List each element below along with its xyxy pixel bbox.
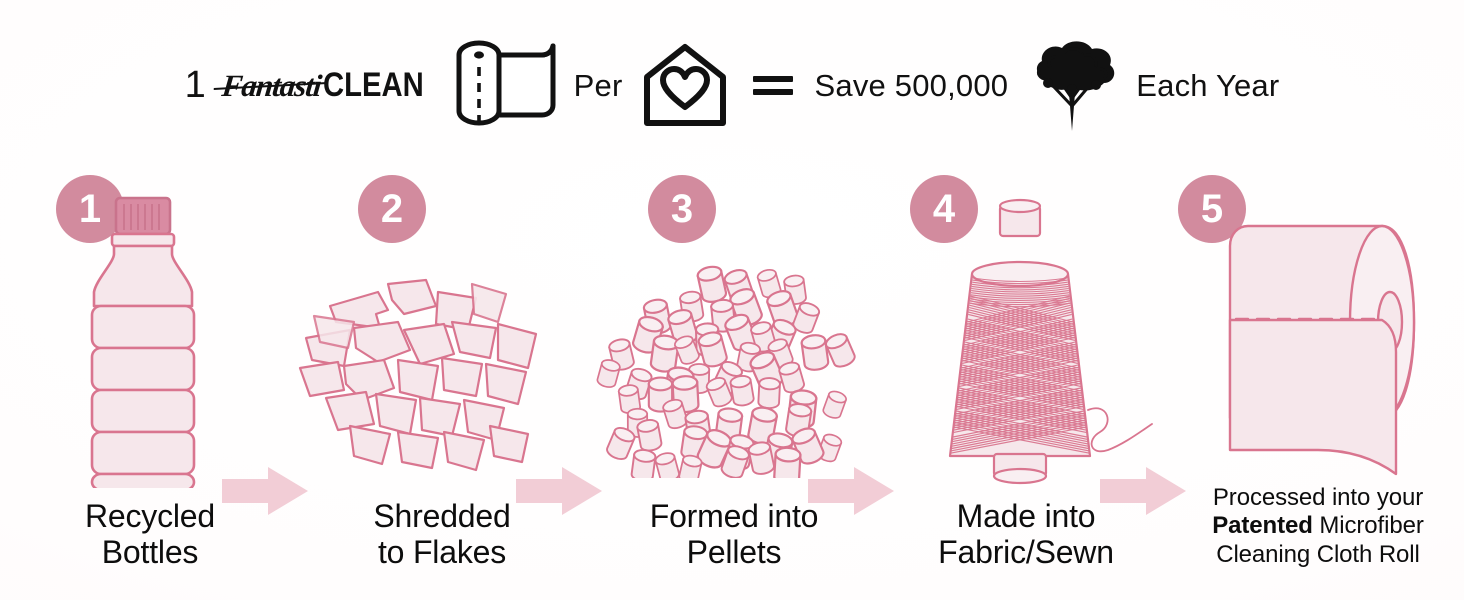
step-5-caption-rest: Microfiber bbox=[1313, 512, 1424, 539]
step-2: 2 bbox=[292, 170, 592, 580]
process-steps: 1 bbox=[0, 170, 1464, 580]
step-5-caption-bold: Patented bbox=[1212, 512, 1313, 539]
tree-icon bbox=[1024, 35, 1120, 135]
header-equation: 1 Fantasti CLEAN Per bbox=[0, 30, 1464, 140]
cloth-roll-icon bbox=[1168, 188, 1464, 478]
header-per-label: Per bbox=[574, 70, 623, 101]
infographic-canvas: 1 Fantasti CLEAN Per bbox=[0, 0, 1464, 600]
plastic-pellets-icon bbox=[584, 188, 884, 478]
brand-bold-text: CLEAN bbox=[323, 66, 424, 105]
brand-logo: Fantasti CLEAN bbox=[220, 66, 440, 105]
step-2-caption-line2: to Flakes bbox=[292, 534, 592, 570]
step-5-caption: Processed into your Patented Microfiber … bbox=[1168, 484, 1464, 570]
step-5-caption-line2: Patented Microfiber bbox=[1168, 512, 1464, 541]
plastic-flakes-icon bbox=[292, 188, 592, 478]
equals-icon bbox=[753, 76, 793, 95]
brand-script-text: Fantasti bbox=[218, 68, 325, 104]
house-heart-icon bbox=[639, 41, 731, 129]
step-1: 1 bbox=[0, 170, 300, 580]
plastic-bottle-icon bbox=[0, 188, 300, 478]
header-period-label: Each Year bbox=[1136, 70, 1279, 101]
thread-cone-icon bbox=[876, 188, 1176, 478]
step-5-caption-line1: Processed into your bbox=[1168, 484, 1464, 513]
header-save-label: Save 500,000 bbox=[815, 70, 1009, 101]
arrow-step-3-to-4 bbox=[808, 465, 894, 517]
step-1-caption-line2: Bottles bbox=[0, 534, 300, 570]
paper-roll-icon bbox=[454, 39, 558, 131]
step-4-caption-line2: Fabric/Sewn bbox=[876, 534, 1176, 570]
arrow-step-4-to-5 bbox=[1100, 465, 1186, 517]
arrow-step-2-to-3 bbox=[516, 465, 602, 517]
step-5-caption-line3: Cleaning Cloth Roll bbox=[1168, 541, 1464, 570]
header-quantity: 1 bbox=[185, 66, 206, 104]
step-4: 4 Made into Fabric/Sewn bbox=[876, 170, 1176, 580]
step-3-caption-line2: Pellets bbox=[584, 534, 884, 570]
step-5: 5 Processed into your Patented Microfibe… bbox=[1168, 170, 1464, 580]
step-3: 3 Formed into Pellets bbox=[584, 170, 884, 580]
arrow-step-1-to-2 bbox=[222, 465, 308, 517]
